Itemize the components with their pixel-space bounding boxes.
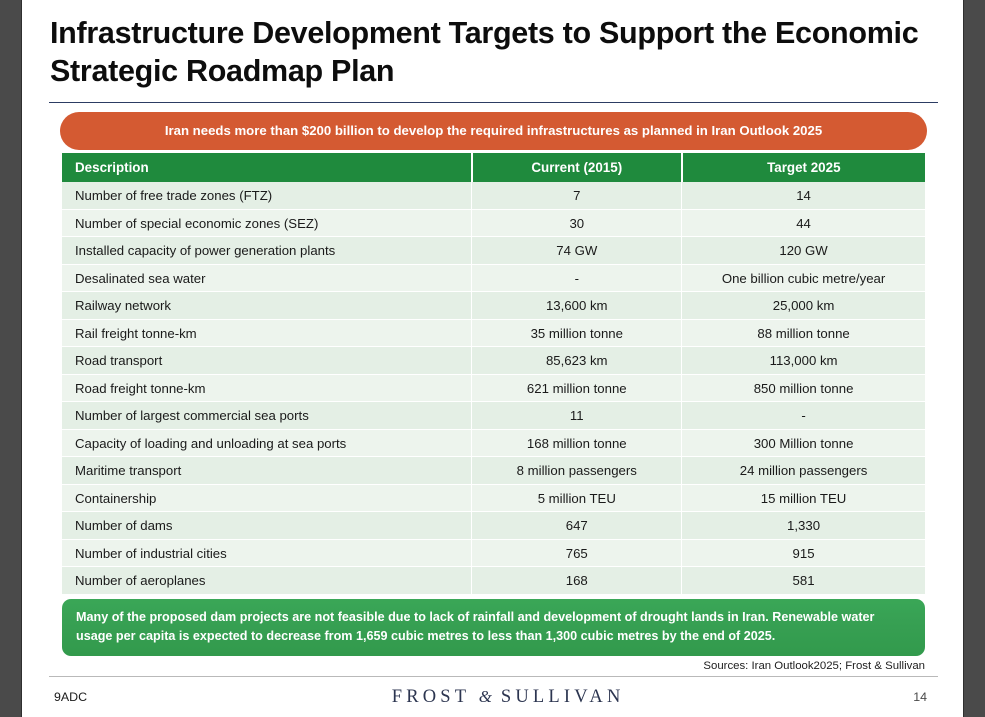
cell-target: 88 million tonne [682,319,925,347]
cell-target: 113,000 km [682,347,925,375]
table-row: Number of dams6471,330 [62,512,925,540]
brand-first-word: FROST [392,687,470,707]
infrastructure-targets-table: Description Current (2015) Target 2025 N… [62,153,925,595]
page-title: Infrastructure Development Targets to Su… [48,14,939,91]
cell-target: One billion cubic metre/year [682,264,925,292]
slide-canvas: Infrastructure Development Targets to Su… [22,0,963,717]
slide-footer: 9ADC FROST & SULLIVAN 14 [48,677,939,717]
table-header-row: Description Current (2015) Target 2025 [62,153,925,182]
table-row: Capacity of loading and unloading at sea… [62,429,925,457]
table-row: Number of aeroplanes168581 [62,567,925,595]
column-header-target: Target 2025 [682,153,925,182]
title-divider [49,102,938,103]
table-container: Description Current (2015) Target 2025 N… [48,153,939,595]
cell-description: Installed capacity of power generation p… [62,237,472,265]
cell-current: 13,600 km [472,292,682,320]
slide-viewer: Infrastructure Development Targets to Su… [0,0,985,717]
cell-current: 647 [472,512,682,540]
cell-description: Road freight tonne-km [62,374,472,402]
cell-current: 5 million TEU [472,484,682,512]
cell-description: Containership [62,484,472,512]
table-row: Number of free trade zones (FTZ)714 [62,182,925,210]
banner-container: Iran needs more than $200 billion to dev… [48,112,939,150]
cell-target: 44 [682,209,925,237]
table-row: Containership5 million TEU15 million TEU [62,484,925,512]
viewer-left-rail [0,0,22,717]
table-row: Maritime transport8 million passengers24… [62,457,925,485]
cell-current: 168 [472,567,682,595]
cell-description: Number of dams [62,512,472,540]
cell-current: 35 million tonne [472,319,682,347]
footer-code: 9ADC [54,690,87,704]
table-row: Road freight tonne-km621 million tonne85… [62,374,925,402]
cell-description: Road transport [62,347,472,375]
table-row: Rail freight tonne-km35 million tonne88 … [62,319,925,347]
cell-description: Number of industrial cities [62,539,472,567]
cell-description: Maritime transport [62,457,472,485]
cell-current: 7 [472,182,682,210]
brand-ampersand: & [479,687,492,706]
footnote-callout: Many of the proposed dam projects are no… [62,599,925,656]
brand-second-word: SULLIVAN [501,687,625,707]
cell-current: 74 GW [472,237,682,265]
cell-target: 15 million TEU [682,484,925,512]
cell-description: Number of largest commercial sea ports [62,402,472,430]
page-number: 14 [913,690,933,704]
cell-description: Number of special economic zones (SEZ) [62,209,472,237]
cell-current: 30 [472,209,682,237]
cell-target: 300 Million tonne [682,429,925,457]
cell-current: 168 million tonne [472,429,682,457]
cell-target: 120 GW [682,237,925,265]
table-row: Installed capacity of power generation p… [62,237,925,265]
table-row: Desalinated sea water-One billion cubic … [62,264,925,292]
cell-description: Desalinated sea water [62,264,472,292]
table-row: Railway network13,600 km25,000 km [62,292,925,320]
cell-target: - [682,402,925,430]
table-body: Number of free trade zones (FTZ)714Numbe… [62,182,925,595]
cell-target: 850 million tonne [682,374,925,402]
company-logo: FROST & SULLIVAN [87,687,913,708]
note-container: Many of the proposed dam projects are no… [48,599,939,656]
column-header-description: Description [62,153,472,182]
cell-target: 1,330 [682,512,925,540]
cell-description: Number of free trade zones (FTZ) [62,182,472,210]
cell-target: 14 [682,182,925,210]
cell-current: 85,623 km [472,347,682,375]
sources-line: Sources: Iran Outlook2025; Frost & Sulli… [48,658,939,672]
table-row: Road transport85,623 km113,000 km [62,347,925,375]
cell-current: 621 million tonne [472,374,682,402]
cell-description: Railway network [62,292,472,320]
cell-current: 765 [472,539,682,567]
highlight-banner: Iran needs more than $200 billion to dev… [60,112,927,150]
cell-current: 11 [472,402,682,430]
table-row: Number of largest commercial sea ports11… [62,402,925,430]
cell-description: Number of aeroplanes [62,567,472,595]
cell-current: 8 million passengers [472,457,682,485]
table-header: Description Current (2015) Target 2025 [62,153,925,182]
cell-target: 25,000 km [682,292,925,320]
viewer-right-rail [963,0,985,717]
cell-target: 24 million passengers [682,457,925,485]
table-row: Number of special economic zones (SEZ)30… [62,209,925,237]
cell-description: Capacity of loading and unloading at sea… [62,429,472,457]
column-header-current: Current (2015) [472,153,682,182]
table-row: Number of industrial cities765915 [62,539,925,567]
cell-description: Rail freight tonne-km [62,319,472,347]
cell-target: 915 [682,539,925,567]
cell-current: - [472,264,682,292]
cell-target: 581 [682,567,925,595]
